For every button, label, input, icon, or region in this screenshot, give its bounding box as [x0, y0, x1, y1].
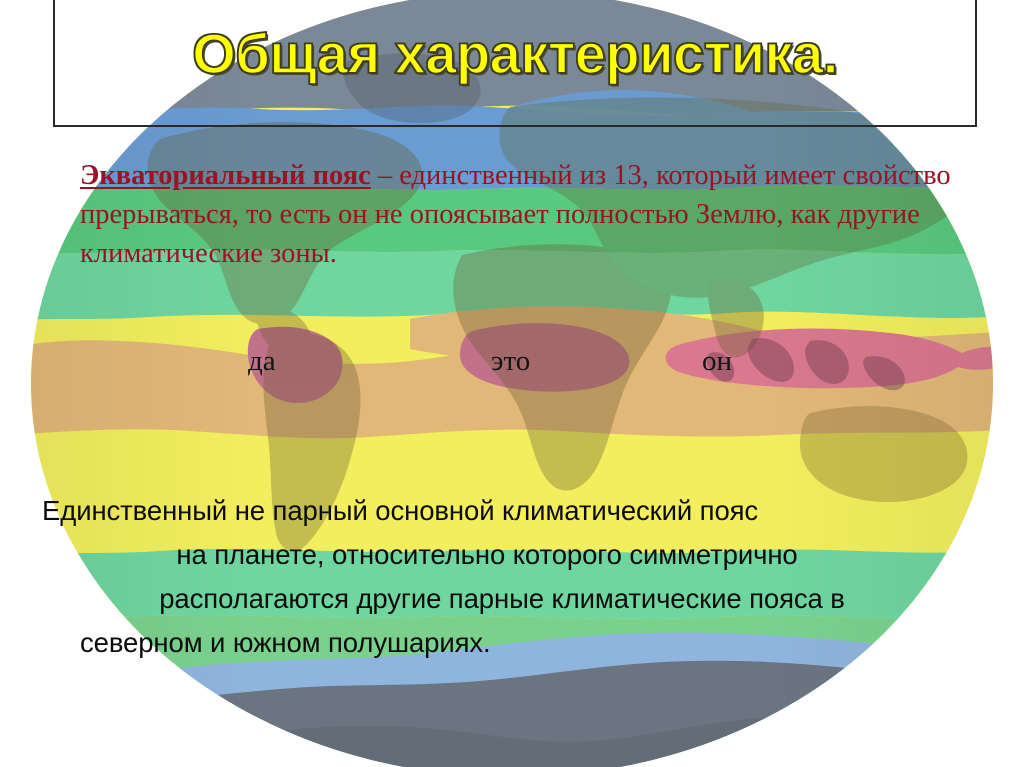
- summary-line-3: располагаются другие парные климатически…: [42, 577, 962, 621]
- equatorial-belt-paragraph: Экваториальный пояс – единственный из 13…: [80, 156, 960, 273]
- summary-line-1: Единственный не парный основной климатич…: [42, 489, 962, 533]
- slide-canvas: Общая характеристика. Экваториальный поя…: [0, 0, 1024, 767]
- equatorial-belt-term: Экваториальный пояс: [80, 160, 371, 191]
- summary-paragraph: Единственный не парный основной климатич…: [42, 489, 962, 665]
- map-label-on: он: [702, 347, 732, 376]
- page-title: Общая характеристика.: [53, 26, 977, 82]
- summary-line-2: на планете, относительно которого симмет…: [42, 533, 962, 577]
- map-label-eto: это: [491, 347, 530, 376]
- summary-line-4: северном и южном полушариях.: [42, 621, 962, 665]
- map-label-da: да: [248, 347, 276, 376]
